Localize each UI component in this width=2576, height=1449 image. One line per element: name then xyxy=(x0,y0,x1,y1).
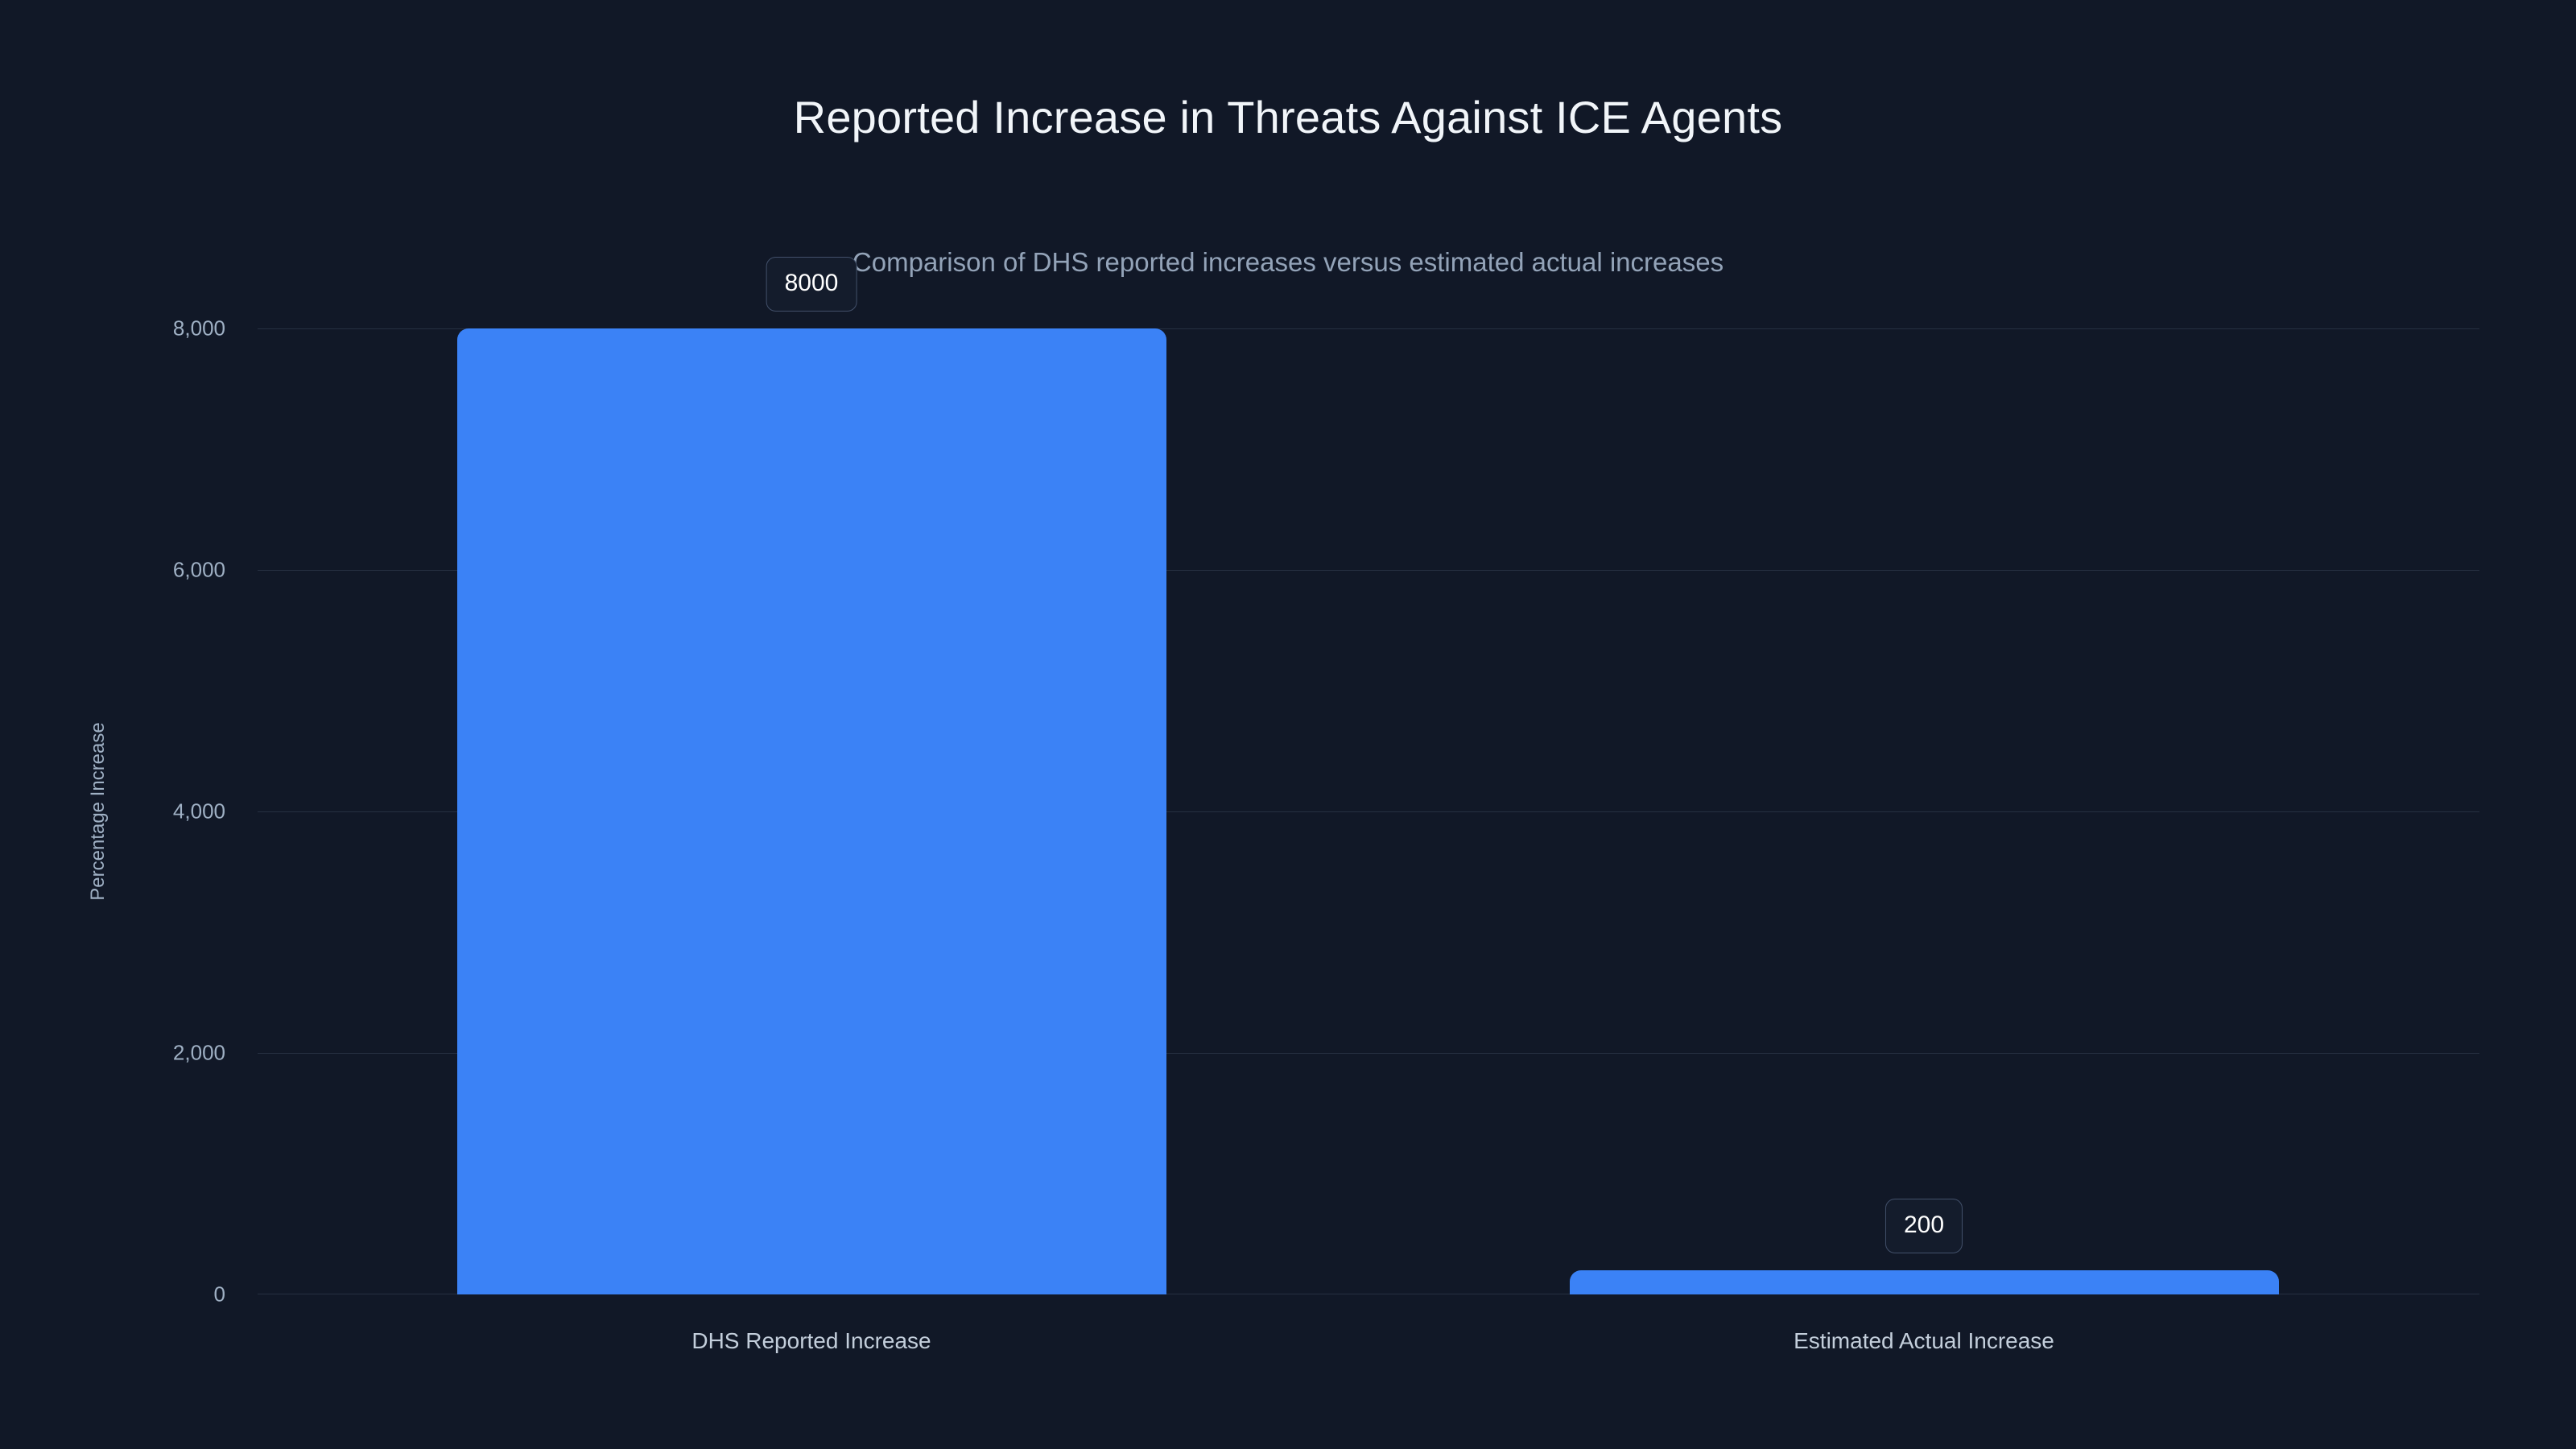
chart-container: Reported Increase in Threats Against ICE… xyxy=(0,0,2576,1449)
bar-dhs-reported-increase[interactable] xyxy=(457,328,1166,1294)
bar-estimated-actual-increase[interactable] xyxy=(1570,1270,2279,1294)
value-badge-dhs-reported-increase[interactable]: 8000 xyxy=(766,257,857,312)
y-tick-4000: 4,000 xyxy=(16,799,225,824)
x-tick-estimated-actual-increase: Estimated Actual Increase xyxy=(1794,1328,2054,1354)
value-badge-estimated-actual-increase[interactable]: 200 xyxy=(1885,1199,1963,1253)
chart-title: Reported Increase in Threats Against ICE… xyxy=(0,93,2576,142)
y-axis-title: Percentage Increase xyxy=(87,722,109,900)
y-tick-0: 0 xyxy=(16,1282,225,1307)
y-tick-6000: 6,000 xyxy=(16,558,225,583)
y-tick-8000: 8,000 xyxy=(16,316,225,341)
plot-area xyxy=(258,328,2479,1294)
x-tick-dhs-reported-increase: DHS Reported Increase xyxy=(691,1328,931,1354)
y-tick-2000: 2,000 xyxy=(16,1041,225,1066)
chart-subtitle: Comparison of DHS reported increases ver… xyxy=(0,246,2576,279)
